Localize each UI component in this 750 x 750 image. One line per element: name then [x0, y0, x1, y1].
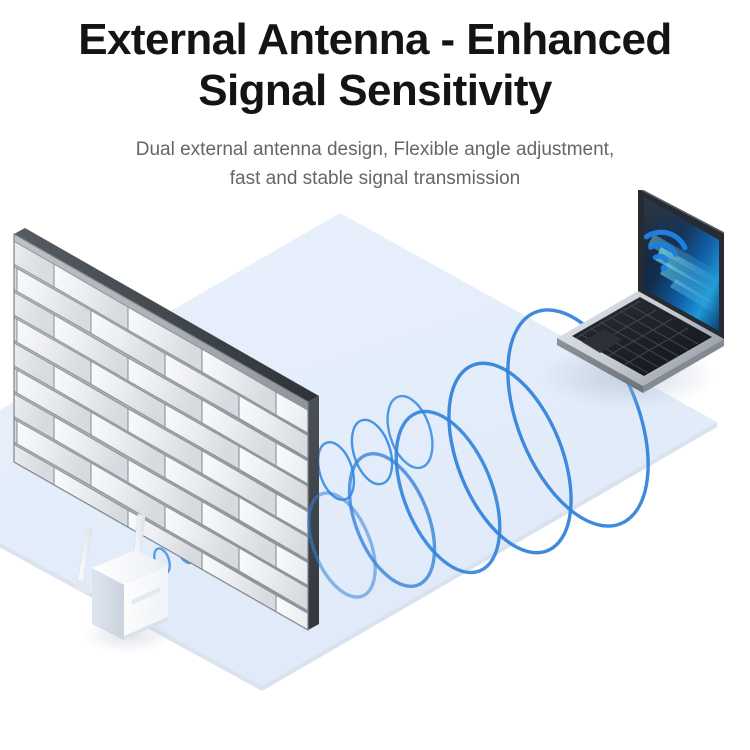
wifi-arc-inner: [655, 255, 667, 261]
page-title: External Antenna - Enhanced Signal Sensi…: [0, 14, 750, 116]
page-subtitle-line-1: Dual external antenna design, Flexible a…: [0, 136, 750, 165]
wifi-signal-icon: [636, 222, 692, 274]
page-title-line-1: External Antenna - Enhanced: [0, 14, 750, 65]
page-title-line-2: Signal Sensitivity: [0, 65, 750, 116]
laptop-computer: [540, 190, 724, 410]
wifi-arc-middle: [651, 241, 678, 254]
product-feature-banner: External Antenna - Enhanced Signal Sensi…: [0, 0, 750, 750]
page-subtitle: Dual external antenna design, Flexible a…: [0, 136, 750, 194]
wifi-dot-icon: [661, 265, 668, 272]
